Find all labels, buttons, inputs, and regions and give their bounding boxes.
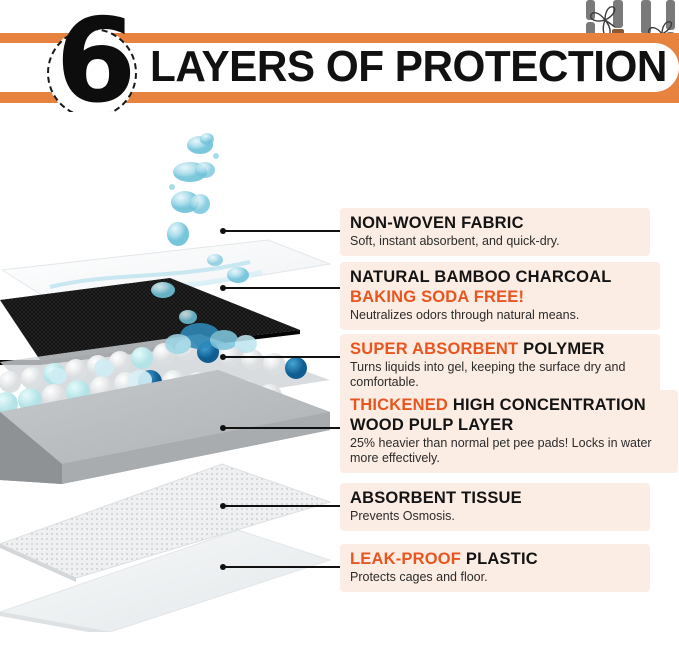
callout-non-woven-fabric: NON-WOVEN FABRIC Soft, instant absorbent… — [340, 208, 650, 256]
leader-line-4 — [223, 427, 341, 429]
callout-desc: Turns liquids into gel, keeping the surf… — [350, 360, 650, 390]
layer-count-number: 6 — [53, 4, 139, 112]
callout-super-absorbent-polymer: SUPER ABSORBENT POLYMER Turns liquids in… — [340, 334, 660, 397]
callout-title-plain: POLYMER — [518, 340, 604, 358]
leader-line-2 — [223, 287, 341, 289]
callout-title-plain: PLASTIC — [461, 550, 538, 568]
callout-title: NON-WOVEN FABRIC — [350, 213, 640, 233]
leader-line-3 — [223, 356, 341, 358]
callout-leak-proof-plastic: LEAK-PROOF PLASTIC Protects cages and fl… — [340, 544, 650, 592]
callout-title-line2: WOOD PULP LAYER — [350, 415, 668, 435]
callout-title: NATURAL BAMBOO CHARCOAL — [350, 267, 650, 287]
callout-desc: 25% heavier than normal pet pee pads! Lo… — [350, 436, 668, 466]
infographic-page: LAYERS OF PROTECTION 6 — [0, 0, 679, 652]
leader-line-5 — [223, 505, 341, 507]
callout-desc: Neutralizes odors through natural means. — [350, 308, 650, 323]
callout-desc: Soft, instant absorbent, and quick-dry. — [350, 234, 640, 249]
callout-list: NON-WOVEN FABRIC Soft, instant absorbent… — [200, 112, 679, 632]
callout-desc: Protects cages and floor. — [350, 570, 640, 585]
callout-title-accent: LEAK-PROOF — [350, 550, 461, 568]
callout-title-accent: BAKING SODA FREE! — [350, 287, 650, 307]
callout-title: SUPER ABSORBENT POLYMER — [350, 339, 650, 359]
callout-desc: Prevents Osmosis. — [350, 509, 640, 524]
header: LAYERS OF PROTECTION 6 — [0, 0, 679, 112]
callout-title: ABSORBENT TISSUE — [350, 488, 640, 508]
leader-line-6 — [223, 566, 341, 568]
callout-absorbent-tissue: ABSORBENT TISSUE Prevents Osmosis. — [340, 483, 650, 531]
callout-natural-bamboo-charcoal: NATURAL BAMBOO CHARCOAL BAKING SODA FREE… — [340, 262, 660, 330]
callout-wood-pulp-layer: THICKENED HIGH CONCENTRATION WOOD PULP L… — [340, 390, 678, 473]
callout-title-accent: THICKENED — [350, 396, 448, 414]
leader-line-1 — [223, 230, 341, 232]
page-title: LAYERS OF PROTECTION — [150, 41, 659, 93]
callout-title-plain: HIGH CONCENTRATION — [448, 396, 646, 414]
callout-title: THICKENED HIGH CONCENTRATION — [350, 395, 668, 415]
callout-title-accent: SUPER ABSORBENT — [350, 340, 518, 358]
callout-title: LEAK-PROOF PLASTIC — [350, 549, 640, 569]
